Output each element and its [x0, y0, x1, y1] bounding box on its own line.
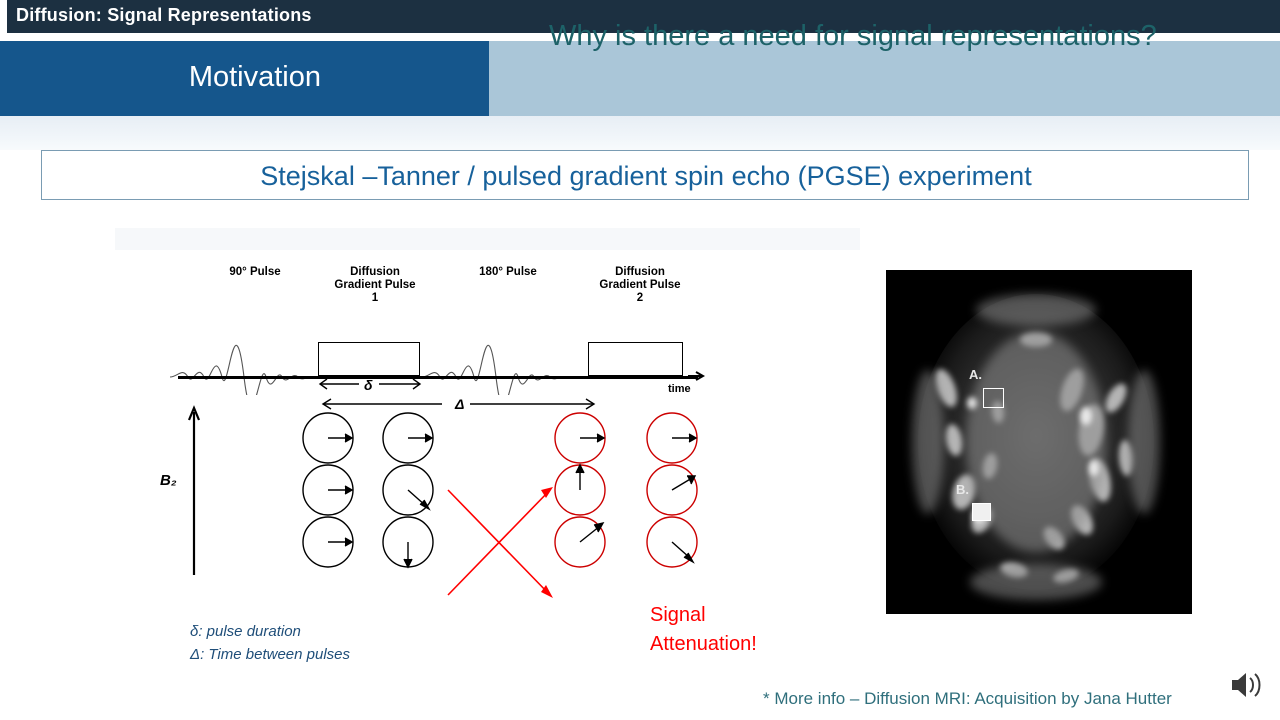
- heading-text: Stejskal –Tanner / pulsed gradient spin …: [42, 161, 1250, 192]
- section-band-left: Motivation: [0, 41, 489, 116]
- signal-attenuation-line1: Signal: [650, 601, 757, 630]
- time-axis-arrow: [688, 369, 718, 385]
- section-label-motivation: Motivation: [189, 61, 321, 94]
- spin-circles: [160, 410, 720, 620]
- page-title-prefix: Diffusion:: [16, 5, 102, 25]
- page-title-main: Signal Representations: [107, 5, 311, 25]
- legend-definitions: δ: pulse duration Δ: Time between pulses: [190, 620, 350, 666]
- signal-attenuation-line2: Attenuation!: [650, 630, 757, 659]
- mri-render: [886, 270, 1192, 614]
- legend-line-bigdelta: Δ: Time between pulses: [190, 643, 350, 666]
- delta-small-label: δ: [364, 377, 373, 393]
- page-title: Diffusion: Signal Representations: [16, 5, 312, 26]
- speaker-icon-glyph: [1228, 668, 1268, 702]
- pgse-sequence-diagram: 90° Pulse Diffusion Gradient Pulse 1 180…: [160, 255, 720, 615]
- footnote-text: * More info – Diffusion MRI: Acquisition…: [763, 689, 1172, 709]
- gradient-pulse-box-2: [588, 342, 683, 376]
- mri-marker-b-label: B.: [956, 482, 969, 497]
- time-axis-label: time: [668, 383, 691, 395]
- delta-small-measure: [315, 373, 445, 395]
- section-question: Why is there a need for signal represent…: [549, 20, 1157, 53]
- background-band: [115, 228, 860, 250]
- mri-marker-b-box: [972, 503, 991, 521]
- legend-line-delta: δ: pulse duration: [190, 620, 350, 643]
- mri-brain-image: A. B.: [886, 270, 1192, 614]
- gradient-pulse-box-1: [318, 342, 420, 376]
- mri-marker-a-label: A.: [969, 367, 982, 382]
- mri-marker-a-box: [983, 388, 1004, 408]
- signal-attenuation-annotation: Signal Attenuation!: [650, 601, 757, 659]
- speaker-icon[interactable]: [1228, 668, 1268, 702]
- title-accent-stripe: [0, 0, 7, 33]
- heading-box: Stejskal –Tanner / pulsed gradient spin …: [41, 150, 1249, 200]
